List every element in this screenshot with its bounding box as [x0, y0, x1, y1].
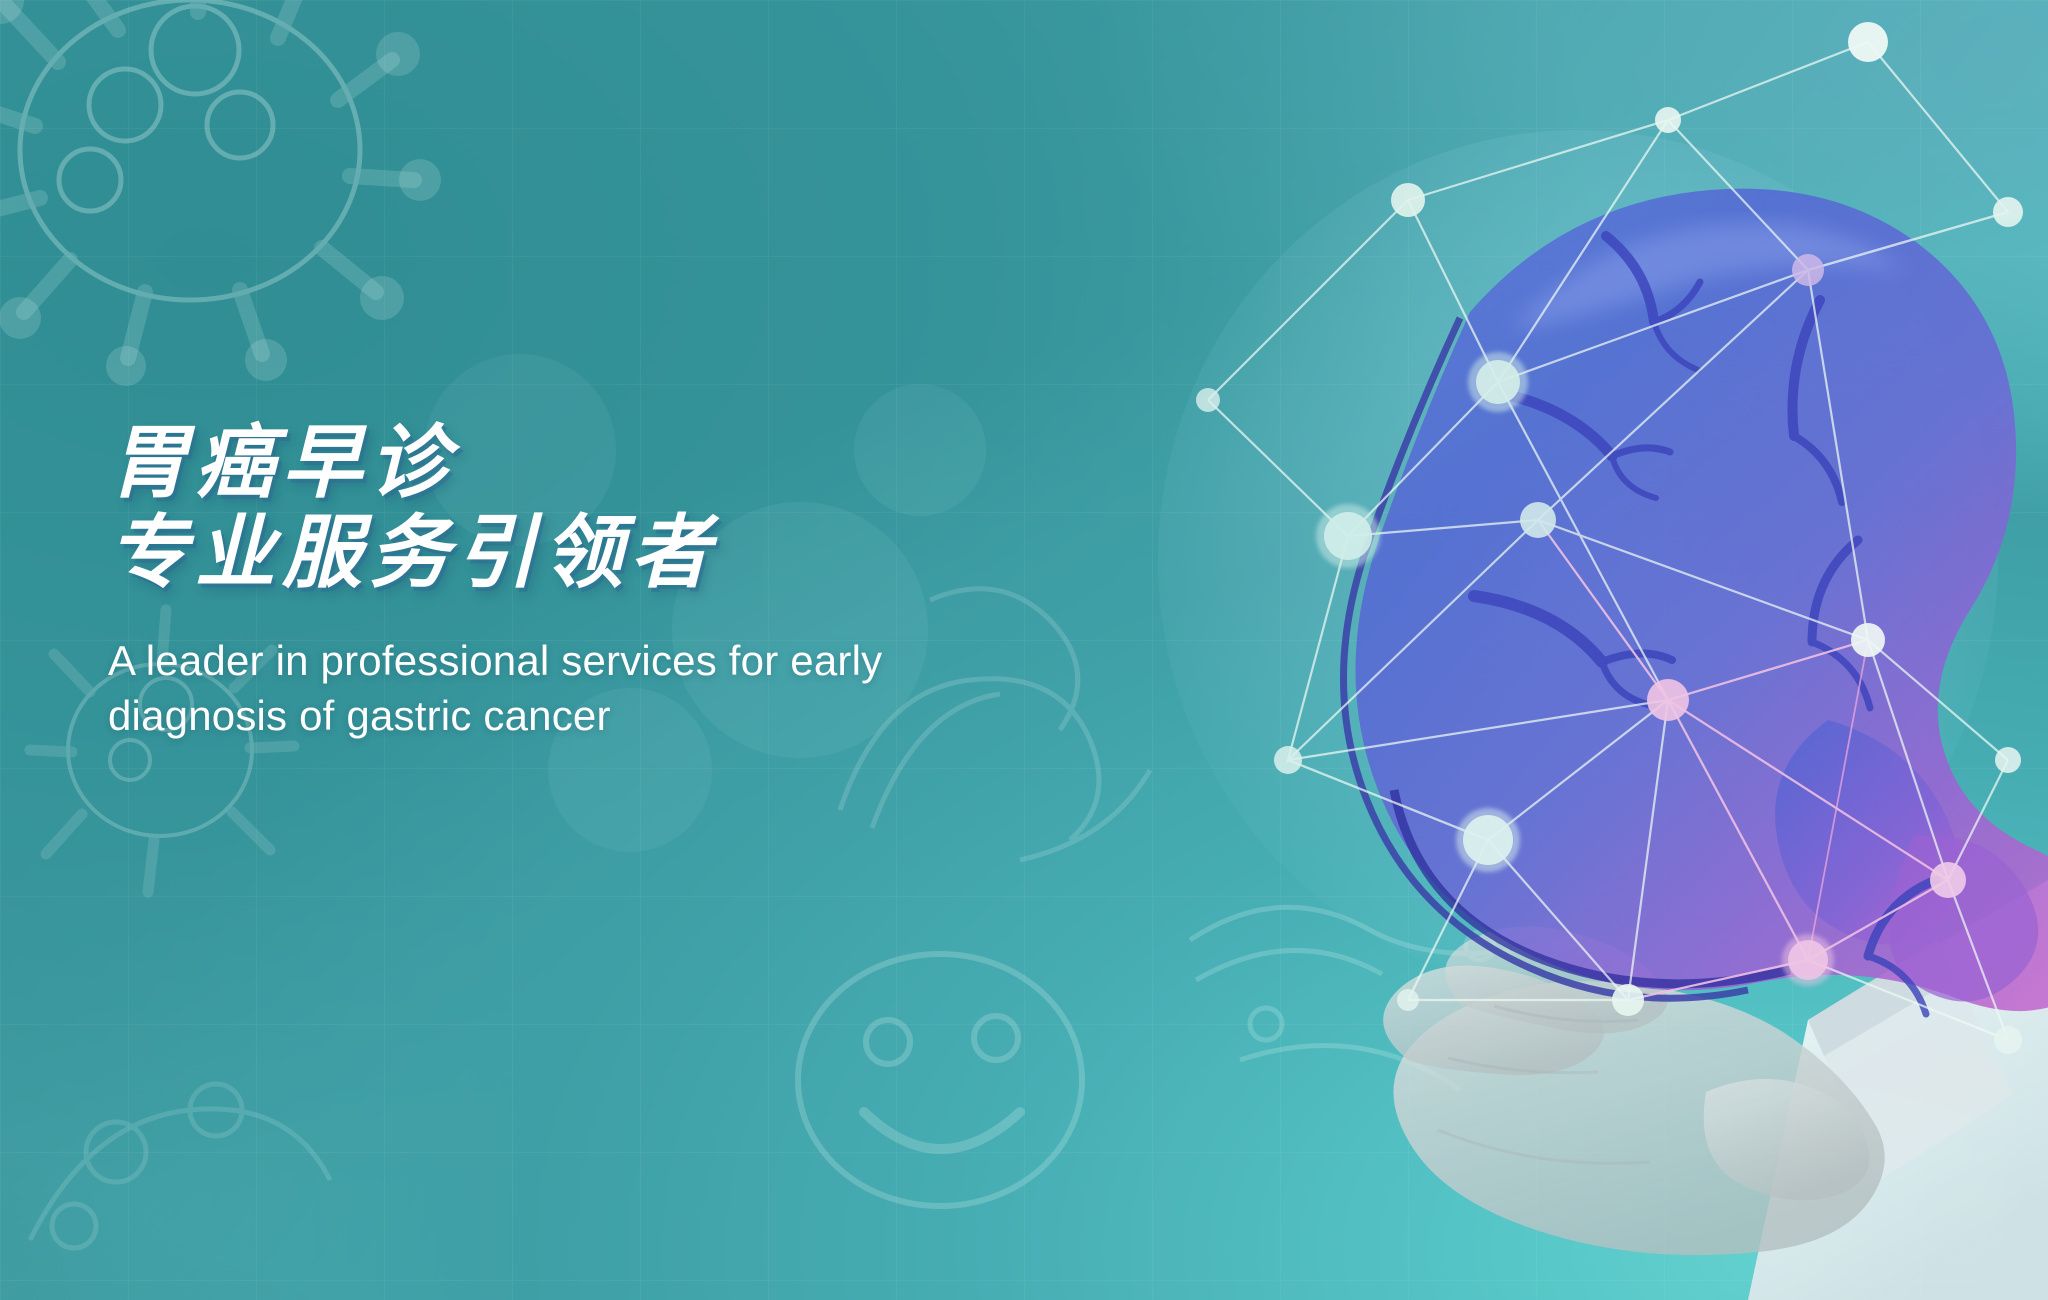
headline-line-2: 专业服务引领者	[108, 508, 1208, 598]
page-title: 胃癌早诊 专业服务引领者	[108, 418, 1208, 599]
page-subtitle: A leader in professional services for ea…	[108, 633, 1118, 744]
headline-line-1: 胃癌早诊	[108, 418, 1208, 508]
subtitle-line-2: diagnosis of gastric cancer	[108, 688, 1118, 743]
hero-copy: 胃癌早诊 专业服务引领者 A leader in professional se…	[108, 418, 1208, 744]
subtitle-line-1: A leader in professional services for ea…	[108, 633, 1118, 688]
stomach-network-hand-graphic	[1108, 0, 2048, 1300]
hero-banner: 胃癌早诊 专业服务引领者 A leader in professional se…	[0, 0, 2048, 1300]
hero-illustration	[1108, 0, 2048, 1300]
